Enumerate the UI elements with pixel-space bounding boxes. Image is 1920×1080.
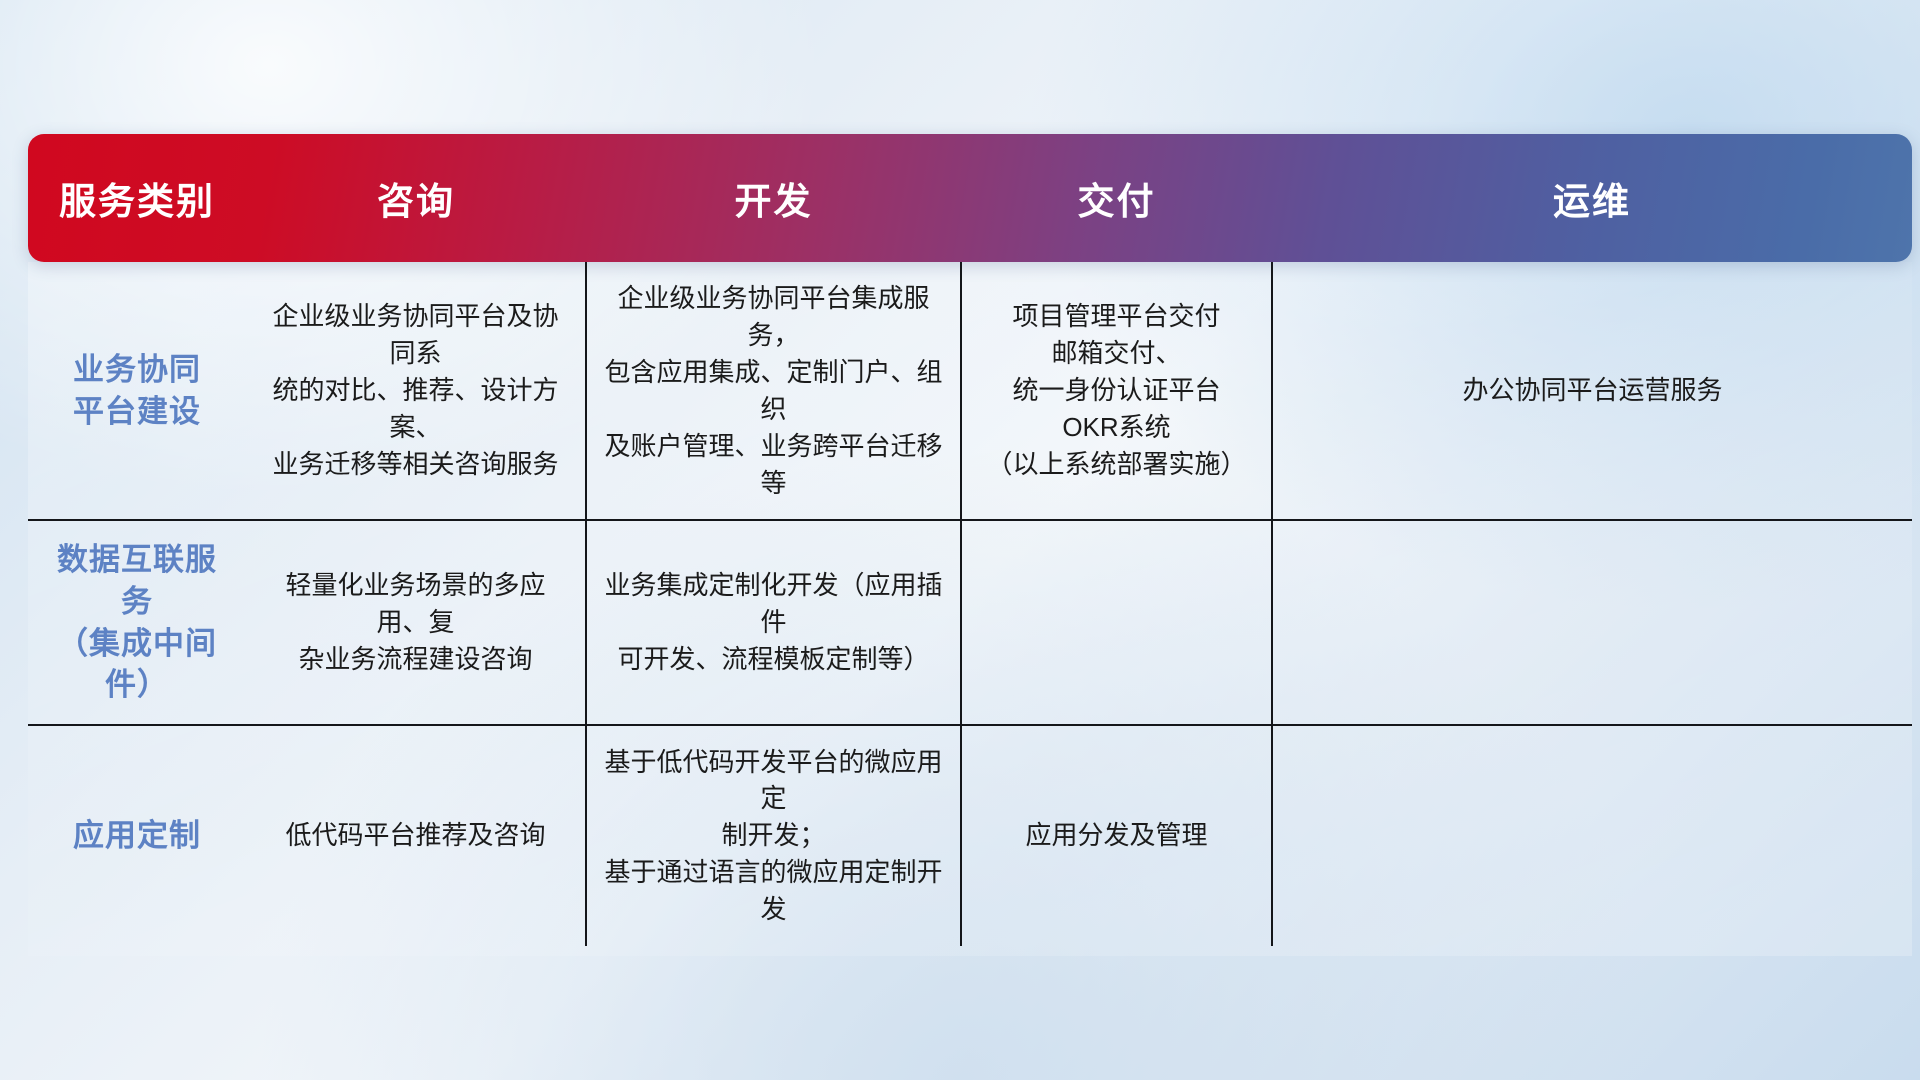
cell-text: 轻量化业务场景的多应用、复 杂业务流程建设咨询 <box>260 567 571 678</box>
table-row: 业务协同 平台建设 企业级业务协同平台及协同系 统的对比、推荐、设计方案、 业务… <box>28 262 1912 520</box>
header-row: 服务类别 咨询 开发 交付 运维 <box>28 134 1912 262</box>
column-header-operations: 运维 <box>1272 134 1912 262</box>
row-category-label: 业务协同 平台建设 <box>42 349 232 432</box>
column-header-delivery: 交付 <box>961 134 1272 262</box>
row-category-business-collaboration: 业务协同 平台建设 <box>28 262 246 520</box>
column-header-delivery-label: 交付 <box>1078 181 1156 222</box>
cell-text: 项目管理平台交付 邮箱交付、 统一身份认证平台 OKR系统 （以上系统部署实施） <box>976 298 1257 483</box>
row-category-data-integration: 数据互联服务 （集成中间件） <box>28 520 246 724</box>
slide-canvas: 服务类别 咨询 开发 交付 运维 <box>0 0 1920 1080</box>
column-header-consulting: 咨询 <box>246 134 586 262</box>
cell-text: 企业级业务协同平台集成服务， 包含应用集成、定制门户、组织 及账户管理、业务跨平… <box>601 280 946 501</box>
cell-text: 企业级业务协同平台及协同系 统的对比、推荐、设计方案、 业务迁移等相关咨询服务 <box>260 298 571 483</box>
service-matrix-wrapper: 服务类别 咨询 开发 交付 运维 <box>28 134 1912 956</box>
cell-text: 业务集成定制化开发（应用插件 可开发、流程模板定制等） <box>601 567 946 678</box>
cell-operations-row3 <box>1272 725 1912 947</box>
cell-operations-row2 <box>1272 520 1912 724</box>
cell-delivery-row3: 应用分发及管理 <box>961 725 1272 947</box>
table-row: 数据互联服务 （集成中间件） 轻量化业务场景的多应用、复 杂业务流程建设咨询 业… <box>28 520 1912 724</box>
column-header-consulting-label: 咨询 <box>377 181 455 222</box>
cell-delivery-row2 <box>961 520 1272 724</box>
cell-development-row1: 企业级业务协同平台集成服务， 包含应用集成、定制门户、组织 及账户管理、业务跨平… <box>586 262 961 520</box>
cell-text: 办公协同平台运营服务 <box>1287 372 1898 409</box>
column-header-development-label: 开发 <box>735 181 813 222</box>
table-header: 服务类别 咨询 开发 交付 运维 <box>28 134 1912 262</box>
column-header-category-label: 服务类别 <box>59 181 215 222</box>
cell-text: 低代码平台推荐及咨询 <box>260 817 571 854</box>
column-header-operations-label: 运维 <box>1553 181 1631 222</box>
column-header-category: 服务类别 <box>28 134 246 262</box>
cell-consulting-row2: 轻量化业务场景的多应用、复 杂业务流程建设咨询 <box>246 520 586 724</box>
cell-delivery-row1: 项目管理平台交付 邮箱交付、 统一身份认证平台 OKR系统 （以上系统部署实施） <box>961 262 1272 520</box>
cell-text: 基于低代码开发平台的微应用定 制开发； 基于通过语言的微应用定制开发 <box>601 744 946 929</box>
cell-development-row3: 基于低代码开发平台的微应用定 制开发； 基于通过语言的微应用定制开发 <box>586 725 961 947</box>
row-category-application-customization: 应用定制 <box>28 725 246 947</box>
cell-text: 应用分发及管理 <box>976 817 1257 854</box>
cell-consulting-row3: 低代码平台推荐及咨询 <box>246 725 586 947</box>
table-row: 应用定制 低代码平台推荐及咨询 基于低代码开发平台的微应用定 制开发； 基于通过… <box>28 725 1912 947</box>
cell-operations-row1: 办公协同平台运营服务 <box>1272 262 1912 520</box>
cell-consulting-row1: 企业级业务协同平台及协同系 统的对比、推荐、设计方案、 业务迁移等相关咨询服务 <box>246 262 586 520</box>
cell-development-row2: 业务集成定制化开发（应用插件 可开发、流程模板定制等） <box>586 520 961 724</box>
row-category-label: 数据互联服务 （集成中间件） <box>42 539 232 705</box>
service-matrix-table: 服务类别 咨询 开发 交付 运维 <box>28 134 1912 946</box>
table-body: 业务协同 平台建设 企业级业务协同平台及协同系 统的对比、推荐、设计方案、 业务… <box>28 262 1912 946</box>
row-category-label: 应用定制 <box>42 815 232 857</box>
column-header-development: 开发 <box>586 134 961 262</box>
